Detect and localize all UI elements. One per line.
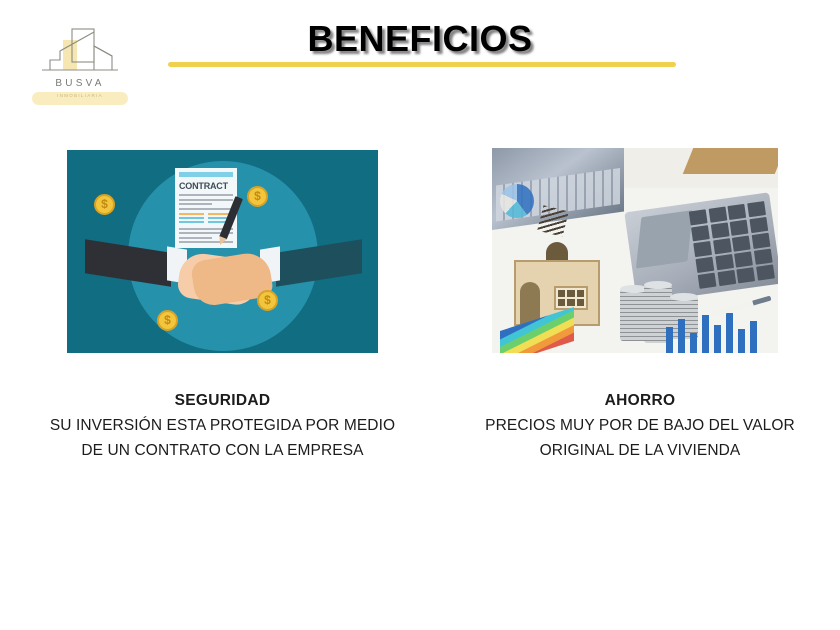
chart-bar (738, 329, 745, 353)
chart-bar (702, 315, 709, 353)
calculator-key (747, 201, 766, 217)
calculator-key (756, 265, 775, 281)
seguridad-caption: SEGURIDAD SU INVERSIÓN ESTA PROTEGIDA PO… (40, 388, 405, 463)
chart-bar (714, 325, 721, 353)
document-text-line (179, 199, 233, 201)
ahorro-caption: AHORRO PRECIOS MUY POR DE BAJO DEL VALOR… (462, 388, 818, 463)
wood-desk-strip (683, 148, 778, 174)
calculator-key (728, 204, 747, 220)
calculator-keys (689, 201, 775, 289)
house-attic-window (546, 242, 568, 262)
page-title: BENEFICIOS (140, 18, 700, 60)
title-underline-rule (168, 62, 676, 67)
calculator-key (732, 236, 751, 252)
seguridad-illustration: CONTRACT (67, 150, 378, 353)
chart-bar (666, 327, 673, 353)
document-text-line (179, 194, 233, 196)
ahorro-photo (492, 148, 778, 353)
calculator-key (713, 238, 732, 254)
calculator-key (717, 270, 736, 286)
document-text-line (179, 208, 233, 210)
dollar-coin-icon: $ (247, 186, 268, 207)
benefit-title-ahorro: AHORRO (462, 388, 818, 413)
window-pane (558, 290, 565, 297)
house-window (554, 286, 588, 310)
calculator-key (734, 252, 753, 268)
house-chimney (537, 205, 569, 237)
calculator-key (689, 209, 708, 225)
slide-header: BUSVA INMOBILIARIA BENEFICIOS (0, 0, 840, 120)
document-chip (179, 221, 204, 223)
document-column (179, 213, 204, 225)
brand-logo: BUSVA INMOBILIARIA (30, 26, 130, 106)
calculator-key (696, 257, 715, 273)
calculator-screen (636, 210, 693, 268)
document-header-band (179, 172, 233, 177)
window-pane (558, 299, 565, 306)
calculator-key (698, 273, 717, 289)
dollar-coin-icon: $ (257, 290, 278, 311)
calculator-key (749, 217, 768, 233)
calculator-key (710, 222, 729, 238)
calculator-key (708, 207, 727, 223)
benefit-card-seguridad: CONTRACT (40, 150, 405, 353)
contract-label: CONTRACT (179, 181, 233, 191)
benefit-title-seguridad: SEGURIDAD (40, 388, 405, 413)
chart-bar (726, 313, 733, 353)
document-text-line (179, 203, 212, 205)
dollar-coin-icon: $ (157, 310, 178, 331)
document-chip (179, 217, 204, 219)
chart-bar (750, 321, 757, 353)
calculator-key (737, 268, 756, 284)
building-outline-icon (30, 26, 130, 78)
calculator-key (691, 225, 710, 241)
benefit-card-ahorro: AHORRO PRECIOS MUY POR DE BAJO DEL VALOR… (462, 148, 818, 353)
window-pane (577, 299, 584, 306)
calculator-key (730, 220, 749, 236)
benefit-description-ahorro: PRECIOS MUY POR DE BAJO DEL VALOR ORIGIN… (485, 417, 795, 459)
logo-wordmark: BUSVA (30, 78, 130, 89)
chart-bar (678, 319, 685, 353)
calculator-key (693, 241, 712, 257)
logo-tagline: INMOBILIARIA (30, 93, 130, 98)
calculator-key (715, 254, 734, 270)
calculator-key (752, 233, 771, 249)
benefit-description-seguridad: SU INVERSIÓN ESTA PROTEGIDA POR MEDIO DE… (50, 417, 395, 459)
window-pane (567, 299, 574, 306)
document-text-line (179, 237, 212, 239)
chart-bar (690, 333, 697, 353)
calculator-key (754, 249, 773, 265)
dollar-coin-icon: $ (94, 194, 115, 215)
wooden-house-model (502, 208, 614, 326)
window-pane (577, 290, 584, 297)
document-chip (179, 213, 204, 215)
window-pane (567, 290, 574, 297)
